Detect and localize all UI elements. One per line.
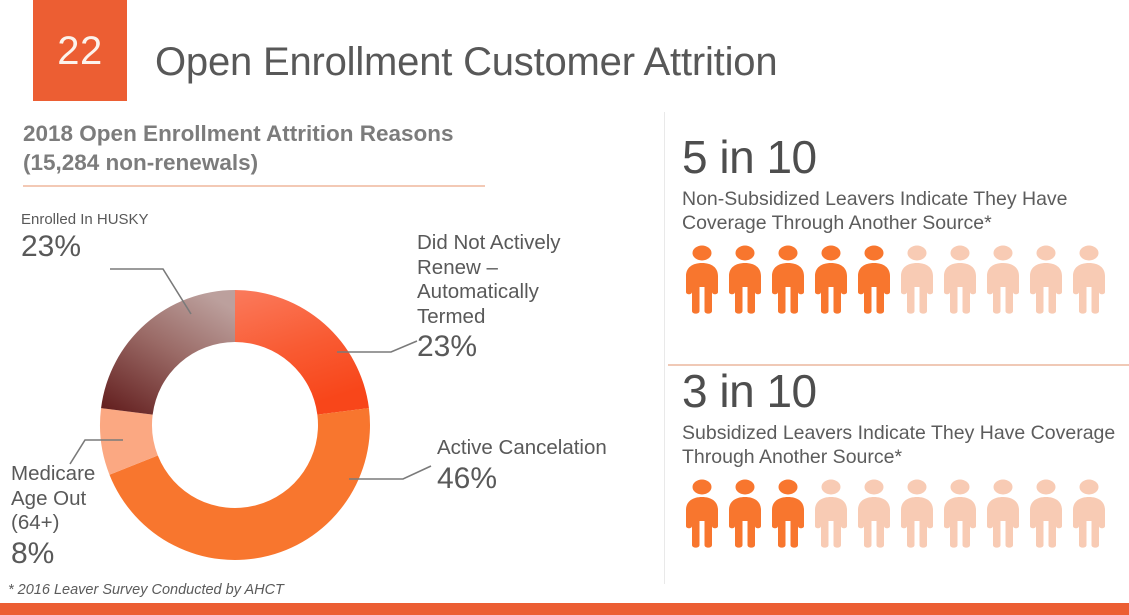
donut-label-medicare-value: 8% (11, 536, 141, 571)
slide-number-text: 22 (57, 31, 103, 71)
person-icon-filled (811, 245, 851, 316)
donut-label-renew-line-2: Renew – (417, 256, 612, 281)
bottom-accent-bar (0, 603, 1129, 615)
pictogram-row-non-subsidized (682, 245, 1129, 316)
donut-slice (101, 290, 235, 415)
slide-canvas: 22 Open Enrollment Customer Attrition 20… (0, 0, 1129, 615)
panel-divider-vertical (664, 112, 665, 584)
donut-label-husky-value: 23% (21, 229, 211, 264)
stat-headline-non-subsidized: 5 in 10 (682, 134, 1129, 181)
person-icon-empty (1026, 245, 1066, 316)
donut-label-medicare: Medicare Age Out (64+) 8% (11, 462, 141, 571)
donut-label-renew-line-4: Termed (417, 305, 612, 330)
person-icon-empty (897, 479, 937, 550)
person-icon-empty (811, 479, 851, 550)
donut-label-husky-text: Enrolled In HUSKY (21, 211, 211, 229)
person-icon-filled (768, 245, 808, 316)
donut-label-medicare-line-2: Age Out (11, 487, 141, 512)
person-icon-filled (682, 479, 722, 550)
chart-subtitle: 2018 Open Enrollment Attrition Reasons (… (23, 120, 493, 178)
person-icon-empty (940, 245, 980, 316)
person-icon-filled (768, 479, 808, 550)
donut-label-husky: Enrolled In HUSKY 23% (21, 211, 211, 264)
chart-subtitle-underline (23, 185, 485, 187)
donut-label-active-text: Active Cancelation (437, 436, 657, 461)
person-icon-filled (725, 479, 765, 550)
person-icon-empty (854, 479, 894, 550)
pictogram-row-subsidized (682, 479, 1129, 550)
person-icon-filled (682, 245, 722, 316)
person-icon-empty (1069, 479, 1109, 550)
stat-description-non-subsidized: Non-Subsidized Leavers Indicate They Hav… (682, 187, 1129, 235)
stat-description-subsidized: Subsidized Leavers Indicate They Have Co… (682, 421, 1129, 469)
stat-headline-subsidized: 3 in 10 (682, 368, 1129, 415)
donut-label-renew-line-3: Automatically (417, 280, 612, 305)
person-icon-empty (1026, 479, 1066, 550)
donut-label-renew-line-1: Did Not Actively (417, 231, 612, 256)
person-icon-filled (725, 245, 765, 316)
stat-block-non-subsidized: 5 in 10 Non-Subsidized Leavers Indicate … (682, 134, 1129, 316)
donut-label-active-cancelation: Active Cancelation 46% (437, 436, 657, 496)
donut-slice (235, 290, 369, 415)
person-icon-empty (897, 245, 937, 316)
person-icon-empty (1069, 245, 1109, 316)
person-icon-empty (983, 479, 1023, 550)
person-icon-filled (854, 245, 894, 316)
donut-label-medicare-line-3: (64+) (11, 511, 141, 536)
donut-label-renew: Did Not Actively Renew – Automatically T… (417, 231, 612, 365)
donut-label-active-value: 46% (437, 461, 657, 496)
page-title: Open Enrollment Customer Attrition (155, 40, 777, 85)
donut-label-renew-value: 23% (417, 329, 612, 364)
donut-label-medicare-line-1: Medicare (11, 462, 141, 487)
person-icon-empty (940, 479, 980, 550)
footnote: * 2016 Leaver Survey Conducted by AHCT (8, 582, 284, 598)
slide-number-badge: 22 (33, 0, 127, 101)
stat-block-subsidized: 3 in 10 Subsidized Leavers Indicate They… (682, 368, 1129, 550)
person-icon-empty (983, 245, 1023, 316)
